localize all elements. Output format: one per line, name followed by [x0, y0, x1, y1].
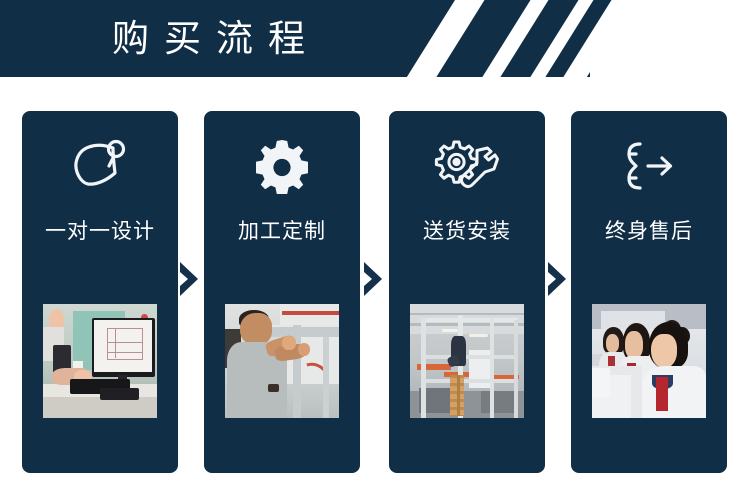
process-steps: 一对一设计	[0, 111, 750, 473]
step-photo	[225, 304, 339, 418]
step-photo	[592, 304, 706, 418]
step-card-2[interactable]: 加工定制	[204, 111, 360, 473]
step-card-3[interactable]: 送货安装	[389, 111, 545, 473]
step-label: 终身售后	[571, 218, 727, 246]
photo-designer-at-computer	[43, 304, 157, 418]
photo-racking-installation	[410, 304, 524, 418]
chevron-right-icon	[178, 262, 202, 296]
chevron-right-icon	[546, 262, 570, 296]
gear-icon	[204, 129, 360, 205]
fabric-pin-icon	[22, 129, 178, 205]
step-photo	[410, 304, 524, 418]
chevron-right-icon	[362, 262, 386, 296]
gear-wrench-icon	[389, 129, 545, 205]
step-card-4[interactable]: 终身售后	[571, 111, 727, 473]
photo-worker-assembling-frame	[225, 304, 339, 418]
step-card-1[interactable]: 一对一设计	[22, 111, 178, 473]
step-photo	[43, 304, 157, 418]
step-label: 加工定制	[204, 218, 360, 246]
page-title: 购买流程	[112, 15, 320, 63]
step-label: 送货安装	[389, 218, 545, 246]
photo-customer-service-staff	[592, 304, 706, 418]
phone-arrow-icon	[571, 129, 727, 205]
page-header: 购买流程	[0, 0, 750, 77]
step-label: 一对一设计	[22, 218, 178, 246]
